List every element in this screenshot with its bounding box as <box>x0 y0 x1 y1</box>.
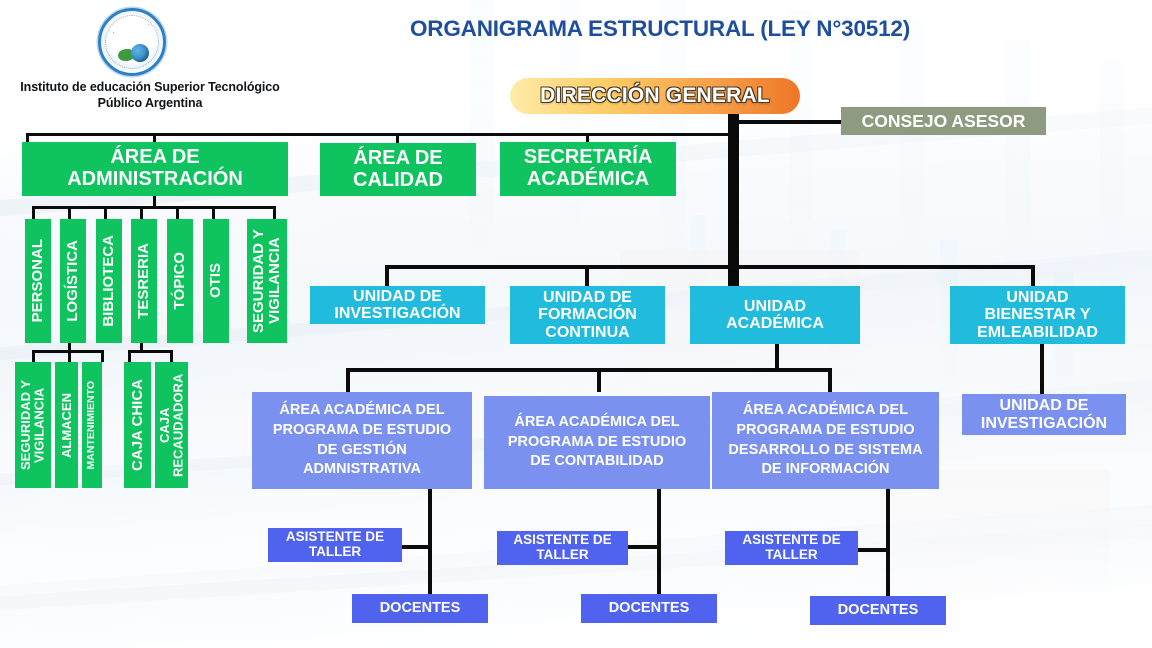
node-label: ÁREA DE CALIDAD <box>353 148 443 191</box>
connector-level1-bus <box>26 133 732 136</box>
node-label: CAJA RECAUDADORA <box>158 364 185 486</box>
connector-level1-stub-calidad <box>396 133 399 143</box>
node-label: ÁREA ACADÉMICA DEL PROGRAMA DE ESTUDIO D… <box>728 401 922 479</box>
node-label: SEGURIDAD Y VIGILANCIA <box>19 364 46 486</box>
node-caja-chica[interactable]: CAJA CHICA <box>124 362 151 488</box>
node-consejo-asesor[interactable]: CONSEJO ASESOR <box>841 107 1046 135</box>
node-asistente-taller-2[interactable]: ASISTENTE DE TALLER <box>497 531 628 565</box>
node-label: TESRERIA <box>136 243 152 319</box>
node-label: TÓPICO <box>172 252 188 310</box>
connector-sub-left-stub-1 <box>32 350 35 362</box>
connector-bienestar-drop <box>1040 344 1044 394</box>
connector-col2-asistente <box>627 545 661 549</box>
node-almacen[interactable]: ALMACEN <box>55 362 78 488</box>
node-label: UNIDAD BIENESTAR Y EMLEABILIDAD <box>977 289 1098 341</box>
node-label: DIRECCIÓN GENERAL <box>540 84 770 108</box>
connector-admin-stub-7 <box>273 206 276 220</box>
node-unidad-bienestar[interactable]: UNIDAD BIENESTAR Y EMLEABILIDAD <box>950 286 1125 344</box>
node-label: MANTENIMIENTO <box>86 381 97 469</box>
node-label: SECRETARÍA ACADÉMICA <box>524 147 653 190</box>
connector-unit-stub-formacion <box>585 265 589 286</box>
node-otis[interactable]: OTIS <box>203 219 229 343</box>
node-mantenimiento[interactable]: MANTENIMIENTO <box>82 362 102 488</box>
connector-admin-stub-1 <box>32 206 35 220</box>
connector-admin-stub-2 <box>68 206 71 220</box>
node-area-gestion-admnistrativa[interactable]: ÁREA ACADÉMICA DEL PROGRAMA DE ESTUDIO D… <box>252 392 472 489</box>
connector-dg-consejo <box>735 120 843 124</box>
connector-sub-left-stub-3 <box>101 350 104 362</box>
connector-academica-stub-1 <box>346 368 350 392</box>
page-title: ORGANIGRAMA ESTRUCTURAL (LEY N°30512) <box>340 16 980 42</box>
node-asistente-taller-1[interactable]: ASISTENTE DE TALLER <box>268 528 402 562</box>
node-topico[interactable]: TÓPICO <box>167 219 193 343</box>
node-asistente-taller-3[interactable]: ASISTENTE DE TALLER <box>725 531 858 565</box>
institution-name: Instituto de educación Superior Tecnológ… <box>0 80 300 111</box>
node-label: CAJA CHICA <box>130 379 146 471</box>
node-label: ÁREA ACADÉMICA DEL PROGRAMA DE ESTUDIO D… <box>508 413 686 472</box>
node-label: PERSONAL <box>30 239 46 322</box>
node-label: UNIDAD ACADÉMICA <box>726 298 824 333</box>
connector-col3-asistente <box>858 548 890 552</box>
node-docentes-2[interactable]: DOCENTES <box>581 594 717 623</box>
connector-academica-drop <box>775 344 779 371</box>
node-area-administracion[interactable]: ÁREA DE ADMINISTRACIÓN <box>22 142 288 196</box>
connector-unit-bus <box>385 265 1035 269</box>
node-label: UNIDAD DE INVESTIGACIÓN <box>981 397 1107 432</box>
connector-admin-stub-3 <box>104 206 107 220</box>
node-direccion-general[interactable]: DIRECCIÓN GENERAL <box>510 78 800 114</box>
node-label: UNIDAD DE INVESTIGACIÓN <box>334 288 460 323</box>
node-seguridad-vigilancia-2[interactable]: SEGURIDAD Y VIGILANCIA <box>15 362 51 488</box>
node-unidad-academica[interactable]: UNIDAD ACADÉMICA <box>690 286 860 344</box>
node-label: ASISTENTE DE TALLER <box>513 533 611 562</box>
connector-admin-stub-5 <box>176 206 179 220</box>
node-unidad-investigacion[interactable]: UNIDAD DE INVESTIGACIÓN <box>310 286 485 324</box>
node-label: LOGÍSTICA <box>65 240 81 322</box>
connector-sub-right-stub-1 <box>128 350 131 362</box>
node-label: ALMACEN <box>60 393 74 458</box>
node-label: ÁREA DE ADMINISTRACIÓN <box>67 147 243 190</box>
node-label: DOCENTES <box>609 601 690 617</box>
node-label: OTIS <box>208 263 224 298</box>
node-label: CONSEJO ASESOR <box>862 112 1026 131</box>
node-docentes-3[interactable]: DOCENTES <box>810 596 946 625</box>
connector-sub-right-bus <box>128 350 173 353</box>
node-label: DOCENTES <box>380 601 461 617</box>
connector-admin-stub-6 <box>212 206 215 220</box>
connector-academica-bus <box>346 368 832 372</box>
node-docentes-1[interactable]: DOCENTES <box>352 594 488 623</box>
node-label: ASISTENTE DE TALLER <box>286 530 384 559</box>
connector-dg-spine <box>728 108 739 298</box>
node-label: UNIDAD DE FORMACIÓN CONTINUA <box>538 289 637 341</box>
node-secretaria-academica[interactable]: SECRETARÍA ACADÉMICA <box>500 142 676 196</box>
connector-admin-stub-4 <box>140 206 143 220</box>
node-personal[interactable]: PERSONAL <box>25 219 51 343</box>
connector-unit-stub-bienestar <box>1031 265 1035 286</box>
connector-col1-asistente <box>400 545 432 549</box>
node-caja-recaudadora[interactable]: CAJA RECAUDADORA <box>155 362 188 488</box>
connector-academica-stub-3 <box>828 368 832 392</box>
node-seguridad-vigilancia[interactable]: SEGURIDAD Y VIGILANCIA <box>247 219 287 343</box>
organigrama-canvas: Instituto de educación Superior Tecnológ… <box>0 0 1152 648</box>
node-label: DOCENTES <box>838 603 919 619</box>
connector-sub-right-stub-2 <box>170 350 173 362</box>
connector-sub-left-stub-2 <box>68 350 71 362</box>
node-label: BIBLIOTECA <box>101 235 117 327</box>
connector-academica-stub-2 <box>597 368 601 392</box>
node-area-contabilidad[interactable]: ÁREA ACADÉMICA DEL PROGRAMA DE ESTUDIO D… <box>484 396 710 489</box>
node-unidad-formacion-continua[interactable]: UNIDAD DE FORMACIÓN CONTINUA <box>510 286 665 344</box>
node-label: SEGURIDAD Y VIGILANCIA <box>251 221 283 341</box>
institute-seal-icon <box>92 6 166 78</box>
connector-unit-stub-investigacion <box>385 265 389 286</box>
node-label: ASISTENTE DE TALLER <box>742 533 840 562</box>
node-unidad-investigacion-2[interactable]: UNIDAD DE INVESTIGACIÓN <box>962 394 1126 435</box>
node-biblioteca[interactable]: BIBLIOTECA <box>96 219 122 343</box>
node-logistica[interactable]: LOGÍSTICA <box>60 219 86 343</box>
node-area-sistemas[interactable]: ÁREA ACADÉMICA DEL PROGRAMA DE ESTUDIO D… <box>712 392 939 489</box>
node-area-calidad[interactable]: ÁREA DE CALIDAD <box>320 143 476 196</box>
node-label: ÁREA ACADÉMICA DEL PROGRAMA DE ESTUDIO D… <box>273 401 451 479</box>
node-tesreria[interactable]: TESRERIA <box>131 219 157 343</box>
